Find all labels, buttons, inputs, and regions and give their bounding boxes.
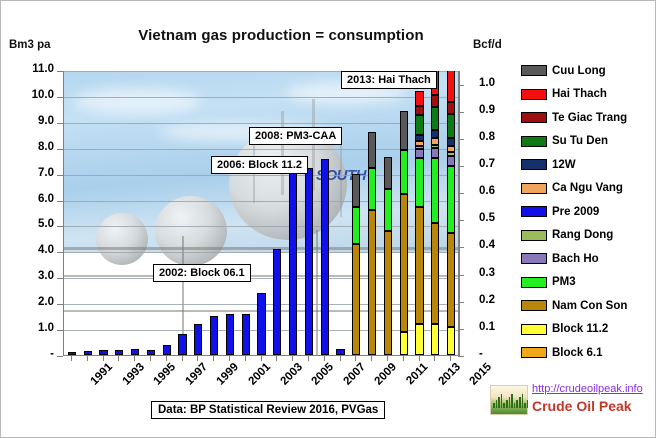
bar-segment	[226, 314, 234, 355]
y-tick-right	[458, 139, 464, 140]
legend-label: 12W	[552, 159, 576, 171]
legend-item[interactable]: Rang Dong	[521, 224, 653, 248]
x-tick	[371, 356, 372, 361]
legend-swatch-icon	[521, 159, 547, 170]
legend-label: Pre 2009	[552, 206, 599, 218]
y-tick-left	[57, 252, 63, 253]
annotation-callout: 2006: Block 11.2	[211, 156, 308, 174]
x-tick	[197, 356, 198, 361]
legend-item[interactable]: Bach Ho	[521, 247, 653, 271]
bar-segment	[415, 141, 423, 146]
bar-1992	[84, 71, 92, 355]
right-axis-line	[458, 71, 460, 356]
y-tick-label-right: 0.4	[479, 239, 519, 251]
x-tick	[103, 356, 104, 361]
x-tick	[387, 356, 388, 361]
legend-item[interactable]: Hai Thach	[521, 83, 653, 107]
bar-2012	[400, 71, 408, 355]
legend-swatch-icon	[521, 206, 547, 217]
chart-figure: Vietnam gas production = consumption Bm3…	[0, 0, 656, 438]
y-tick-right	[458, 220, 464, 221]
legend-label: Te Giac Trang	[552, 112, 627, 124]
y-tick-right	[458, 356, 464, 357]
x-tick	[166, 356, 167, 361]
bar-1994	[115, 71, 123, 355]
bar-segment	[99, 350, 107, 355]
y-tick-label-right: 0.6	[479, 185, 519, 197]
y-tick-label-left: 7.0	[8, 167, 54, 179]
y-tick-left	[57, 97, 63, 98]
bar-1996	[147, 71, 155, 355]
bar-2005	[289, 71, 297, 355]
x-tick-label: 1997	[183, 361, 210, 388]
bar-segment	[431, 130, 439, 138]
y-tick-left	[57, 278, 63, 279]
legend-item[interactable]: Su Tu Den	[521, 130, 653, 154]
bar-segment	[115, 350, 123, 355]
bar-segment	[384, 189, 392, 230]
x-tick	[419, 356, 420, 361]
legend-item[interactable]: Pre 2009	[521, 200, 653, 224]
y-tick-label-left: 2.0	[8, 296, 54, 308]
bar-segment	[447, 233, 455, 326]
y-tick-label-left: 4.0	[8, 244, 54, 256]
logo-grass-icon	[524, 403, 526, 408]
bar-segment	[415, 91, 423, 107]
source-note: Data: BP Statistical Review 2016, PVGas	[151, 401, 385, 419]
legend-label: Nam Con Son	[552, 300, 627, 312]
bar-segment	[431, 107, 439, 130]
x-tick-label: 2015	[468, 361, 495, 388]
bar-2006	[305, 71, 313, 355]
bar-segment	[431, 148, 439, 158]
bar-segment	[431, 158, 439, 223]
legend-label: Su Tu Den	[552, 135, 608, 147]
logo-grass-icon	[516, 400, 518, 408]
bar-segment	[415, 146, 423, 149]
x-tick	[118, 356, 119, 361]
bar-segment	[384, 157, 392, 189]
y-tick-right	[458, 112, 464, 113]
logo-grass-icon	[527, 400, 529, 408]
y-tick-right	[458, 166, 464, 167]
bar-segment	[431, 223, 439, 324]
x-tick-label: 2001	[246, 361, 273, 388]
legend-label: Bach Ho	[552, 253, 599, 265]
bar-segment	[163, 345, 171, 355]
y-tick-left	[57, 304, 63, 305]
x-tick	[292, 356, 293, 361]
x-tick	[71, 356, 72, 361]
x-tick	[340, 356, 341, 361]
bar-segment	[84, 351, 92, 355]
logo-grass-icon	[498, 397, 500, 408]
bar-2001	[226, 71, 234, 355]
bar-segment	[447, 146, 455, 152]
y-tick-label-right: 0.8	[479, 131, 519, 143]
bar-segment	[289, 168, 297, 355]
legend-item[interactable]: Ca Ngu Vang	[521, 177, 653, 201]
x-tick	[450, 356, 451, 361]
y-tick-left	[57, 149, 63, 150]
bar-segment	[447, 166, 455, 233]
legend-item[interactable]: 12W	[521, 153, 653, 177]
legend-label: Hai Thach	[552, 88, 607, 100]
y-tick-label-right: 0.5	[479, 212, 519, 224]
bar-segment	[352, 244, 360, 355]
y-axis-label-right: Bcf/d	[473, 39, 502, 51]
bar-2004	[273, 71, 281, 355]
legend-item[interactable]: Block 11.2	[521, 318, 653, 342]
y-tick-label-left: 5.0	[8, 218, 54, 230]
bar-2015	[447, 71, 455, 355]
y-tick-left	[57, 330, 63, 331]
x-tick-label: 1999	[215, 361, 242, 388]
legend-item[interactable]: Nam Con Son	[521, 294, 653, 318]
logo-grass-icon	[509, 397, 511, 408]
y-tick-left	[57, 226, 63, 227]
bar-segment	[368, 132, 376, 168]
legend-swatch-icon	[521, 183, 547, 194]
y-tick-label-left: 3.0	[8, 270, 54, 282]
x-tick	[134, 356, 135, 361]
y-tick-label-left: 9.0	[8, 115, 54, 127]
bar-2007	[321, 71, 329, 355]
page-title: Vietnam gas production = consumption	[111, 27, 451, 44]
legend-swatch-icon	[521, 136, 547, 147]
bar-2000	[210, 71, 218, 355]
legend-swatch-icon	[521, 300, 547, 311]
x-tick-label: 2005	[310, 361, 337, 388]
website-link[interactable]: http://crudeoilpeak.info	[532, 383, 643, 395]
legend-item[interactable]: PM3	[521, 271, 653, 295]
legend-label: Rang Dong	[552, 229, 613, 241]
y-tick-label-left: 1.0	[8, 322, 54, 334]
y-tick-left	[57, 175, 63, 176]
y-tick-label-right: 0.7	[479, 158, 519, 170]
legend-label: Block 6.1	[552, 347, 603, 359]
x-tick-label: 2003	[278, 361, 305, 388]
bar-segment	[352, 207, 360, 243]
y-tick-label-right: 0.9	[479, 104, 519, 116]
bar-segment	[415, 207, 423, 324]
bar-segment	[68, 352, 76, 355]
x-tick	[182, 356, 183, 361]
x-tick	[324, 356, 325, 361]
bar-segment	[400, 111, 408, 150]
bar-segment	[242, 314, 250, 355]
bar-segment	[447, 156, 455, 166]
bar-segment	[400, 194, 408, 331]
y-tick-left	[57, 123, 63, 124]
bar-segment	[352, 174, 360, 208]
bar-1997	[163, 71, 171, 355]
y-tick-label-right: 0.2	[479, 294, 519, 306]
bar-1998	[178, 71, 186, 355]
x-tick	[403, 356, 404, 361]
legend-label: Ca Ngu Vang	[552, 182, 623, 194]
bar-segment	[147, 350, 155, 355]
y-tick-label-left: 10.0	[8, 89, 54, 101]
bar-segment	[447, 138, 455, 146]
bar-segment	[447, 152, 455, 155]
bar-1995	[131, 71, 139, 355]
logo-grass-icon	[511, 394, 513, 408]
chart-legend: Cuu LongHai ThachTe Giac TrangSu Tu Den1…	[521, 59, 653, 365]
bar-segment	[431, 324, 439, 355]
bar-2009	[352, 71, 360, 355]
bar-segment	[368, 168, 376, 209]
x-tick-label: 2009	[373, 361, 400, 388]
y-axis-label-left: Bm3 pa	[9, 39, 51, 51]
y-tick-right	[458, 302, 464, 303]
bar-2008	[336, 71, 344, 355]
bar-segment	[447, 327, 455, 356]
bar-segment	[321, 159, 329, 355]
plot-area: SOUTH	[63, 71, 458, 356]
legend-label: Cuu Long	[552, 65, 606, 77]
y-tick-label-right: -	[479, 348, 519, 360]
bar-segment	[415, 149, 423, 158]
logo-grass-icon	[496, 400, 498, 408]
logo-grass-icon	[519, 397, 521, 408]
x-tick-label: 2007	[341, 361, 368, 388]
bar-segment	[447, 71, 455, 102]
y-tick-right	[458, 247, 464, 248]
legend-item[interactable]: Cuu Long	[521, 59, 653, 83]
bar-2014	[431, 71, 439, 355]
x-tick	[261, 356, 262, 361]
x-tick	[87, 356, 88, 361]
bar-segment	[368, 210, 376, 355]
bar-segment	[431, 95, 439, 107]
legend-swatch-icon	[521, 277, 547, 288]
annotation-callout: 2013: Hai Thach	[341, 71, 437, 89]
x-tick	[150, 356, 151, 361]
annotation-callout: 2002: Block 06.1	[153, 264, 251, 282]
bar-segment	[415, 106, 423, 115]
bar-1991	[68, 71, 76, 355]
legend-swatch-icon	[521, 347, 547, 358]
bar-segment	[400, 332, 408, 355]
bar-segment	[400, 150, 408, 194]
legend-swatch-icon	[521, 253, 547, 264]
legend-item[interactable]: Block 6.1	[521, 341, 653, 365]
x-tick-label: 1993	[120, 361, 147, 388]
bar-segment	[384, 231, 392, 355]
x-tick	[276, 356, 277, 361]
bar-2013	[415, 71, 423, 355]
logo-grass-icon	[501, 394, 503, 408]
legend-label: Block 11.2	[552, 323, 608, 335]
x-tick-label: 2013	[436, 361, 463, 388]
y-tick-left	[57, 71, 63, 72]
bar-segment	[305, 168, 313, 355]
x-tick-label: 1995	[152, 361, 179, 388]
legend-swatch-icon	[521, 112, 547, 123]
x-tick-label: 1991	[88, 361, 115, 388]
bar-2003	[257, 71, 265, 355]
y-tick-right	[458, 85, 464, 86]
y-tick-label-left: 11.0	[8, 63, 54, 75]
x-tick	[213, 356, 214, 361]
logo-grass-icon	[503, 403, 505, 408]
bar-segment	[210, 316, 218, 355]
bar-segment	[415, 135, 423, 141]
bar-segment	[415, 158, 423, 207]
brand-name: Crude Oil Peak	[532, 398, 632, 414]
bar-segment	[415, 115, 423, 134]
bar-segment	[194, 324, 202, 355]
bar-segment	[431, 138, 439, 144]
y-tick-right	[458, 329, 464, 330]
bar-segment	[415, 324, 423, 355]
annotation-callout: 2008: PM3-CAA	[249, 127, 342, 145]
legend-item[interactable]: Te Giac Trang	[521, 106, 653, 130]
bar-2011	[384, 71, 392, 355]
bar-2010	[368, 71, 376, 355]
crude-oil-peak-logo-icon	[490, 385, 528, 415]
bar-1999	[194, 71, 202, 355]
logo-grass-icon	[493, 403, 495, 408]
logo-grass-icon	[514, 403, 516, 408]
legend-swatch-icon	[521, 89, 547, 100]
bar-2002	[242, 71, 250, 355]
y-tick-label-left: -	[8, 348, 54, 360]
y-tick-right	[458, 193, 464, 194]
y-tick-label-right: 0.3	[479, 267, 519, 279]
bar-segment	[273, 249, 281, 355]
bar-segment	[336, 349, 344, 355]
bar-segment	[431, 145, 439, 148]
bar-segment	[257, 293, 265, 355]
legend-label: PM3	[552, 276, 576, 288]
y-tick-label-right: 0.1	[479, 321, 519, 333]
y-tick-label-left: 8.0	[8, 141, 54, 153]
y-tick-label-right: 1.0	[479, 77, 519, 89]
x-tick	[434, 356, 435, 361]
x-tick	[229, 356, 230, 361]
legend-swatch-icon	[521, 65, 547, 76]
x-tick	[308, 356, 309, 361]
y-tick-label-left: 6.0	[8, 193, 54, 205]
legend-swatch-icon	[521, 230, 547, 241]
x-tick-label: 2011	[404, 361, 430, 387]
y-tick-left	[57, 201, 63, 202]
logo-grass-icon	[506, 400, 508, 408]
bar-segment	[447, 102, 455, 114]
bar-segment	[178, 334, 186, 355]
bar-1993	[99, 71, 107, 355]
x-tick	[245, 356, 246, 361]
bar-segment	[131, 349, 139, 355]
x-tick	[355, 356, 356, 361]
bar-segment	[447, 114, 455, 139]
legend-swatch-icon	[521, 324, 547, 335]
y-tick-left	[57, 356, 63, 357]
logo-grass-icon	[522, 394, 524, 408]
y-tick-right	[458, 275, 464, 276]
